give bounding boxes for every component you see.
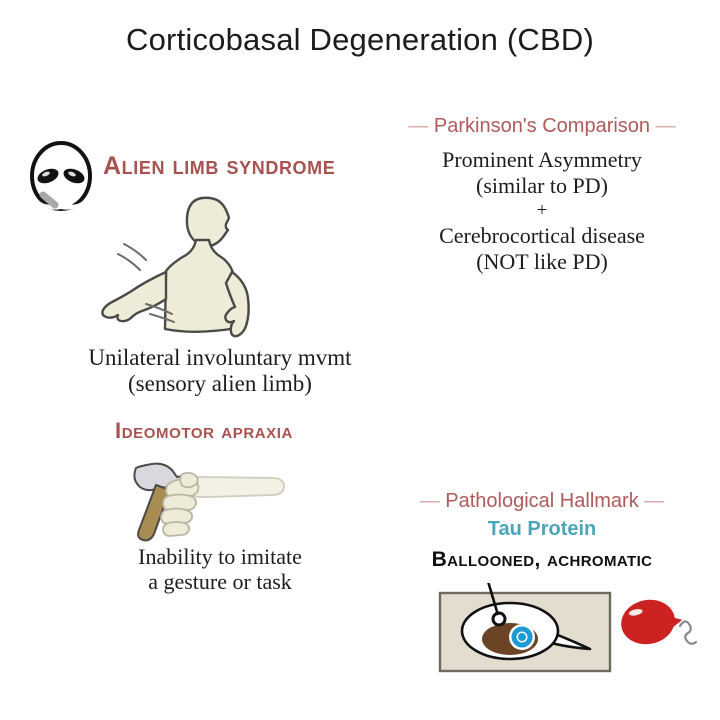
cbd-infographic-page: Corticobasal Degeneration (CBD) Alien li… [0, 0, 720, 720]
ideomotor-apraxia-caption: Inability to imitate a gesture or task [90, 545, 350, 594]
parkinsons-line3: Cerebrocortical disease [372, 223, 712, 249]
hand-gripping-hammer-illustration [120, 452, 320, 552]
ballooned-neuron-illustration [438, 583, 618, 680]
apraxia-caption-line1: Inability to imitate [90, 545, 350, 570]
parkinsons-line1: Prominent Asymmetry [372, 147, 712, 173]
apraxia-caption-line2: a gesture or task [90, 570, 350, 595]
red-balloon-illustration [618, 596, 698, 659]
alien-limb-caption-line2: (sensory alien limb) [60, 371, 380, 397]
parkinsons-operator: + [372, 199, 712, 223]
ballooned-achromatic-label: Ballooned, achromatic [372, 548, 712, 572]
dash-right: — [644, 490, 664, 512]
dash-left: — [408, 115, 428, 137]
parkinsons-comparison-heading-text: Parkinson's Comparison [434, 115, 650, 137]
parkinsons-comparison-body: Prominent Asymmetry (similar to PD) + Ce… [372, 147, 712, 275]
parkinsons-line2: (similar to PD) [372, 173, 712, 199]
pathological-hallmark-heading: — Pathological Hallmark — [372, 490, 712, 513]
page-title: Corticobasal Degeneration (CBD) [0, 22, 720, 58]
alien-head-icon [25, 140, 97, 221]
alien-limb-caption-line1: Unilateral involuntary mvmt [60, 345, 380, 371]
torso-with-extended-arm-illustration [100, 188, 300, 358]
pathological-hallmark-heading-text: Pathological Hallmark [445, 490, 638, 512]
parkinsons-line4: (NOT like PD) [372, 249, 712, 275]
dash-right: — [656, 115, 676, 137]
ideomotor-apraxia-heading: Ideomotor apraxia [115, 418, 293, 444]
parkinsons-comparison-heading: — Parkinson's Comparison — [372, 115, 712, 138]
alien-limb-heading: Alien limb syndrome [103, 152, 335, 181]
alien-limb-caption: Unilateral involuntary mvmt (sensory ali… [60, 345, 380, 397]
dash-left: — [420, 490, 440, 512]
tau-protein-subheading: Tau Protein [372, 518, 712, 541]
